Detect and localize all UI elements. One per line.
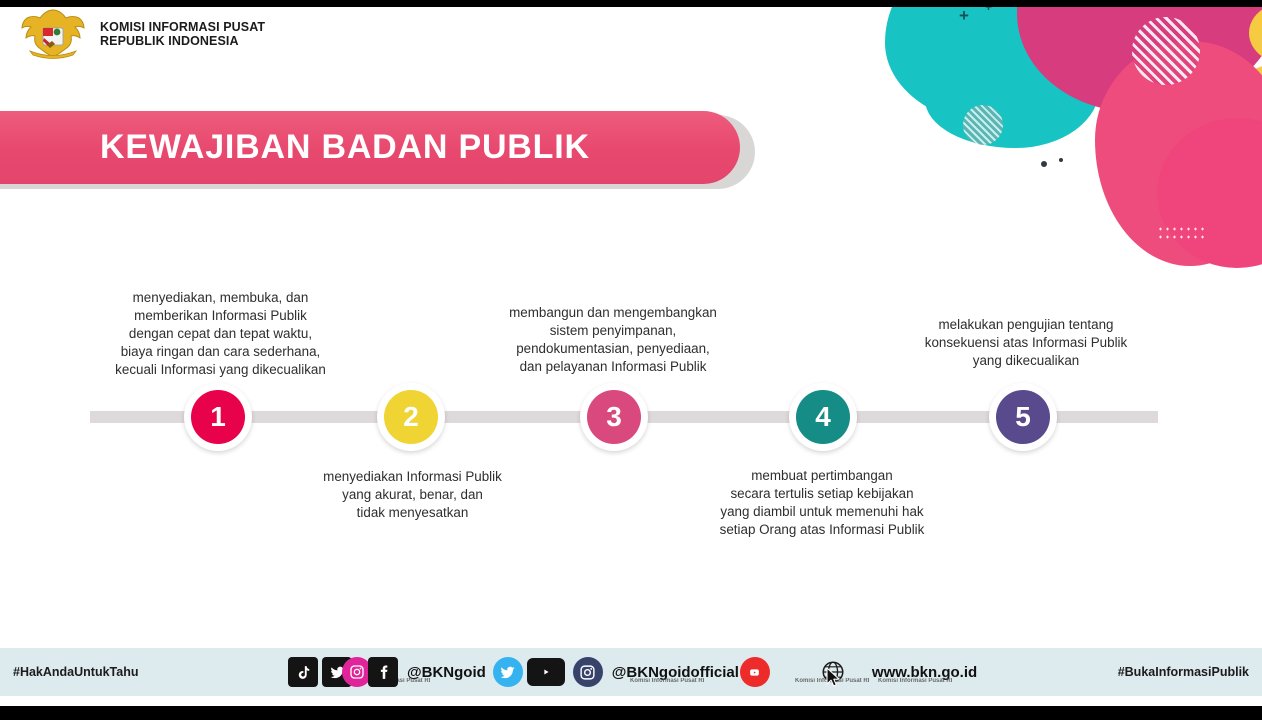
dot-icon [1041,161,1047,167]
decorative-corner-graphics: + + [857,3,1262,268]
timeline-caption-3: membangun dan mengembangkansistem penyim… [482,304,744,376]
page-title: KEWAJIBAN BADAN PUBLIK [100,128,590,167]
timeline-node-5-number: 5 [996,390,1050,444]
timeline-node-4[interactable]: 4 [789,383,857,451]
timeline-node-2-number: 2 [384,390,438,444]
dot-grid-pattern-icon [1157,225,1207,243]
timeline-node-3[interactable]: 3 [580,383,648,451]
video-slide-frame: + + [0,0,1262,720]
timeline-caption-4: membuat pertimbangansecara tertulis seti… [688,467,956,539]
org-line-1: KOMISI INFORMASI PUSAT [100,20,265,34]
timeline-node-2[interactable]: 2 [377,383,445,451]
letterbox-top [0,0,1262,7]
timeline-node-1-number: 1 [191,390,245,444]
pink-blob-icon [1017,3,1262,112]
teal-blob-secondary-icon [925,38,1100,148]
social-media-cluster: @BKNgoid [288,657,984,687]
yellow-blob-top-icon [1249,3,1262,63]
social-handle-2: @BKNgoidofficial [612,664,739,681]
footer-hashtag-right: #BukaInformasiPublik [1118,665,1249,679]
youtube-icon[interactable] [740,657,770,687]
twitter-icon[interactable] [493,657,523,687]
timeline-caption-1: menyediakan, membuka, danmemberikan Info… [88,289,353,379]
striped-circle-icon [1132,17,1200,85]
slide-canvas: + + [0,3,1262,707]
letterbox-bottom [0,706,1262,720]
pink-blob-lower-icon [1095,41,1262,266]
organization-name: KOMISI INFORMASI PUSAT REPUBLIK INDONESI… [100,20,265,48]
organization-header: KOMISI INFORMASI PUSAT REPUBLIK INDONESI… [16,7,265,61]
instagram-icon[interactable] [573,657,603,687]
timeline-caption-5: melakukan pengujian tentangkonsekuensi a… [898,316,1154,370]
timeline-caption-2: menyediakan Informasi Publikyang akurat,… [290,468,535,522]
footer-hashtag-left: #HakAndaUntukTahu [13,665,138,679]
striped-circle-small-icon [963,105,1003,145]
title-banner: KEWAJIBAN BADAN PUBLIK [0,111,740,184]
teal-blob-icon [885,3,1095,126]
tiktok-icon[interactable] [288,657,318,687]
timeline-node-1[interactable]: 1 [184,383,252,451]
timeline-node-3-number: 3 [587,390,641,444]
dot-small-icon [1059,158,1063,162]
timeline-node-4-number: 4 [796,390,850,444]
org-line-2: REPUBLIK INDONESIA [100,34,265,48]
pink-blob-round-icon [1157,118,1262,268]
facebook-icon[interactable] [368,657,398,687]
footer-bar: #HakAndaUntukTahu [0,648,1262,696]
yellow-blob-icon [1217,63,1262,195]
website-url[interactable]: www.bkn.go.id [872,664,977,681]
garuda-pancasila-emblem-icon [16,7,90,61]
timeline-node-5[interactable]: 5 [989,383,1057,451]
social-handle-1: @BKNgoid [407,664,486,681]
plus-mark-icon: + [959,7,969,24]
youtube-icon[interactable] [527,658,565,686]
globe-icon[interactable] [818,657,848,687]
